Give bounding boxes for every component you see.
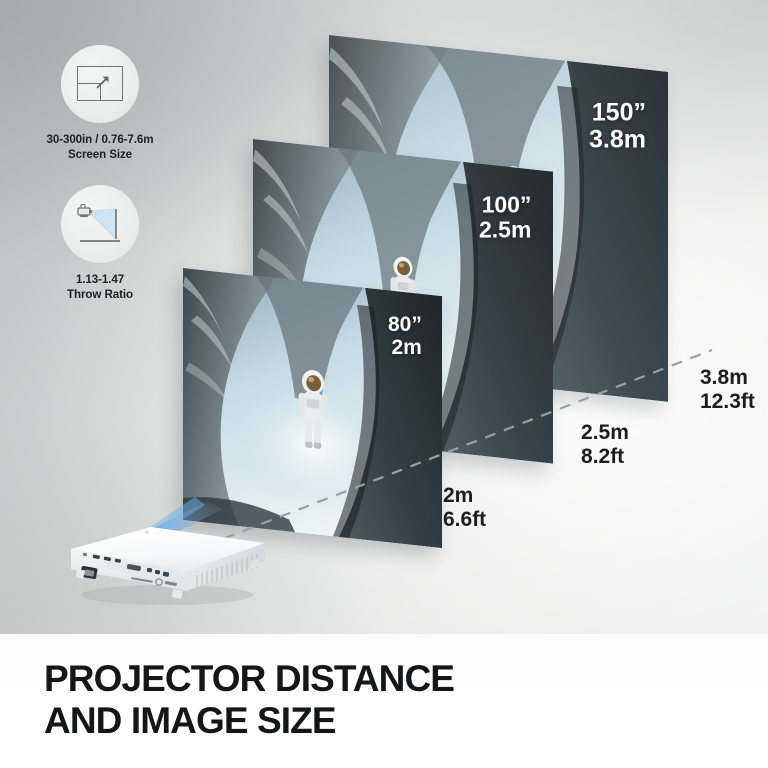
throw-ratio-disc (61, 185, 139, 263)
page-title: PROJECTOR DISTANCE AND IMAGE SIZE (44, 658, 744, 742)
distance-3_8m: 3.8m 12.3ft (700, 366, 755, 414)
projector (55, 495, 275, 605)
screen-size-value: 30-300in / 0.76-7.6m (47, 133, 154, 146)
distance-3_8m-imperial: 12.3ft (700, 390, 755, 414)
throw-ratio-value: 1.13-1.47 (76, 273, 124, 286)
screen-80-metric: 2m (388, 337, 422, 360)
screen-150-size: 150” (592, 98, 646, 126)
screen-80-size: 80” (388, 313, 422, 336)
throw-ratio-icon (74, 201, 126, 249)
screen-150-metric: 3.8m (589, 126, 646, 153)
distance-2m-metric: 2m (443, 484, 473, 507)
screen-80-size-label: 80” 2m (388, 314, 422, 359)
infographic-canvas: 150” 3.8m (0, 0, 768, 768)
distance-2_5m: 2.5m 8.2ft (581, 421, 629, 469)
page-title-line2: AND IMAGE SIZE (44, 700, 744, 742)
distance-2_5m-metric: 2.5m (581, 421, 629, 444)
screen-size-disc (61, 45, 139, 123)
page-title-line1: PROJECTOR DISTANCE (44, 658, 454, 699)
screen-150-size-label: 150” 3.8m (589, 99, 646, 153)
screen-100-size: 100” (481, 191, 531, 217)
screen-size-caption: 30-300in / 0.76-7.6m Screen Size (0, 132, 200, 162)
throw-ratio-label: Throw Ratio (0, 287, 200, 302)
feature-throw-ratio: 1.13-1.47 Throw Ratio (0, 185, 200, 302)
distance-2_5m-imperial: 8.2ft (581, 445, 629, 469)
screen-100-metric: 2.5m (479, 217, 531, 242)
screen-size-label: Screen Size (0, 147, 200, 162)
distance-2m-imperial: 6.6ft (443, 508, 486, 532)
screen-100-size-label: 100” 2.5m (479, 192, 531, 242)
distance-3_8m-metric: 3.8m (700, 366, 748, 389)
screen-size-icon (77, 66, 123, 101)
expand-arrow-icon (95, 74, 111, 90)
distance-2m: 2m 6.6ft (443, 484, 486, 532)
throw-ratio-caption: 1.13-1.47 Throw Ratio (0, 272, 200, 302)
feature-screen-size: 30-300in / 0.76-7.6m Screen Size (0, 45, 200, 162)
